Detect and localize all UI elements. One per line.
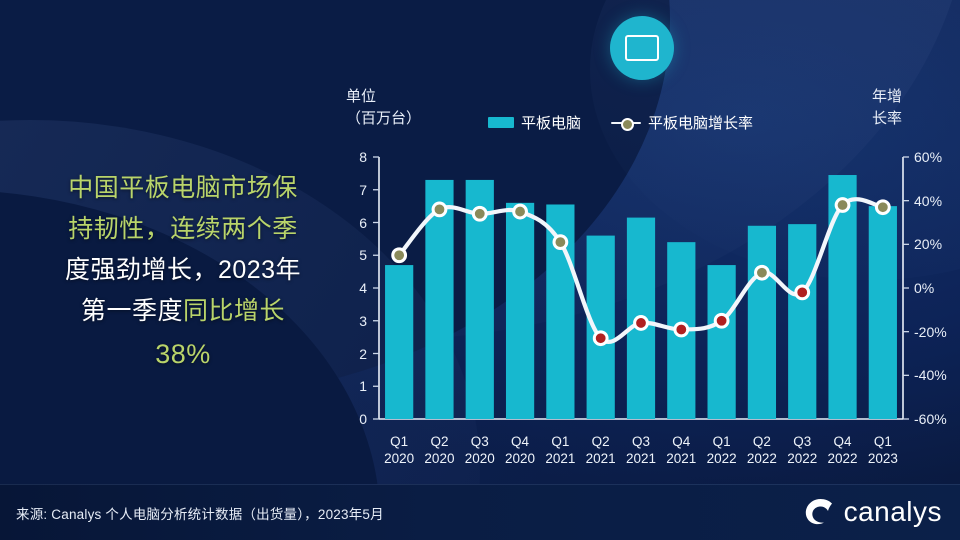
bar-Q1-2020[interactable]	[385, 265, 413, 419]
x-tick-year: 2022	[700, 450, 744, 467]
x-axis-tick: Q12021	[538, 433, 582, 467]
x-tick-year: 2022	[740, 450, 784, 467]
line-marker-Q4-2021[interactable]	[675, 323, 688, 336]
y-axis-tick-right: -60%	[914, 411, 960, 427]
x-tick-year: 2021	[659, 450, 703, 467]
line-marker-Q2-2021[interactable]	[594, 332, 607, 345]
line-marker-Q2-2020[interactable]	[433, 203, 446, 216]
canalys-wordmark: canalys	[844, 496, 942, 528]
x-tick-year: 2021	[538, 450, 582, 467]
bar-Q4-2020[interactable]	[506, 203, 534, 419]
y-axis-tick-left: 1	[345, 378, 367, 394]
x-axis-tick: Q32022	[780, 433, 824, 467]
x-tick-year: 2020	[417, 450, 461, 467]
x-tick-quarter: Q1	[700, 433, 744, 450]
line-marker-Q3-2020[interactable]	[473, 207, 486, 220]
x-axis-tick: Q22020	[417, 433, 461, 467]
x-tick-quarter: Q4	[659, 433, 703, 450]
x-tick-quarter: Q2	[579, 433, 623, 450]
line-marker-Q1-2020[interactable]	[393, 249, 406, 262]
x-tick-quarter: Q3	[619, 433, 663, 450]
y-axis-tick-left: 8	[345, 149, 367, 165]
y-axis-tick-left: 4	[345, 280, 367, 296]
y-axis-tick-left: 7	[345, 182, 367, 198]
x-tick-quarter: Q1	[538, 433, 582, 450]
x-axis-tick: Q22021	[579, 433, 623, 467]
line-marker-Q3-2021[interactable]	[635, 317, 648, 330]
x-tick-year: 2020	[377, 450, 421, 467]
x-axis-tick: Q32020	[458, 433, 502, 467]
x-tick-quarter: Q3	[780, 433, 824, 450]
x-tick-quarter: Q3	[458, 433, 502, 450]
y-axis-tick-right: 60%	[914, 149, 960, 165]
x-tick-year: 2023	[861, 450, 905, 467]
y-axis-tick-right: -20%	[914, 324, 960, 340]
y-axis-tick-left: 2	[345, 346, 367, 362]
x-tick-year: 2021	[619, 450, 663, 467]
x-axis-tick: Q12020	[377, 433, 421, 467]
x-tick-quarter: Q4	[821, 433, 865, 450]
x-tick-year: 2021	[579, 450, 623, 467]
bar-Q1-2023[interactable]	[869, 206, 897, 419]
line-marker-Q3-2022[interactable]	[796, 286, 809, 299]
y-axis-tick-right: 40%	[914, 193, 960, 209]
x-axis-tick: Q32021	[619, 433, 663, 467]
x-tick-year: 2020	[498, 450, 542, 467]
x-tick-quarter: Q1	[377, 433, 421, 450]
bar-Q3-2022[interactable]	[788, 224, 816, 419]
x-tick-quarter: Q1	[861, 433, 905, 450]
chart-plot-area: 012345678-60%-40%-20%0%20%40%60%Q12020Q2…	[0, 0, 960, 540]
bar-Q2-2021[interactable]	[587, 236, 615, 419]
y-axis-tick-right: -40%	[914, 367, 960, 383]
bar-Q2-2022[interactable]	[748, 226, 776, 419]
canalys-swirl-icon	[802, 497, 836, 527]
line-marker-Q1-2021[interactable]	[554, 236, 567, 249]
x-tick-quarter: Q2	[417, 433, 461, 450]
x-axis-tick: Q42020	[498, 433, 542, 467]
canalys-logo: canalys	[802, 496, 942, 528]
line-marker-Q2-2022[interactable]	[756, 266, 769, 279]
bar-Q1-2022[interactable]	[708, 265, 736, 419]
x-axis-tick: Q12023	[861, 433, 905, 467]
y-axis-tick-left: 5	[345, 247, 367, 263]
x-axis-tick: Q42022	[821, 433, 865, 467]
line-marker-Q4-2022[interactable]	[836, 199, 849, 212]
y-axis-tick-left: 6	[345, 215, 367, 231]
y-axis-tick-right: 20%	[914, 236, 960, 252]
x-axis-tick: Q42021	[659, 433, 703, 467]
x-tick-quarter: Q2	[740, 433, 784, 450]
slide-canvas: 中国平板电脑市场保 持韧性，连续两个季 度强劲增长，2023年 第一季度同比增长…	[0, 0, 960, 540]
line-marker-Q1-2023[interactable]	[876, 201, 889, 214]
x-axis-tick: Q22022	[740, 433, 784, 467]
line-marker-Q4-2020[interactable]	[514, 205, 527, 218]
source-note: 来源: Canalys 个人电脑分析统计数据（出货量），2023年5月	[16, 503, 384, 523]
y-axis-tick-left: 3	[345, 313, 367, 329]
y-axis-tick-right: 0%	[914, 280, 960, 296]
x-tick-year: 2022	[821, 450, 865, 467]
x-tick-year: 2020	[458, 450, 502, 467]
x-axis-tick: Q12022	[700, 433, 744, 467]
y-axis-tick-left: 0	[345, 411, 367, 427]
x-tick-year: 2022	[780, 450, 824, 467]
x-tick-quarter: Q4	[498, 433, 542, 450]
line-marker-Q1-2022[interactable]	[715, 314, 728, 327]
